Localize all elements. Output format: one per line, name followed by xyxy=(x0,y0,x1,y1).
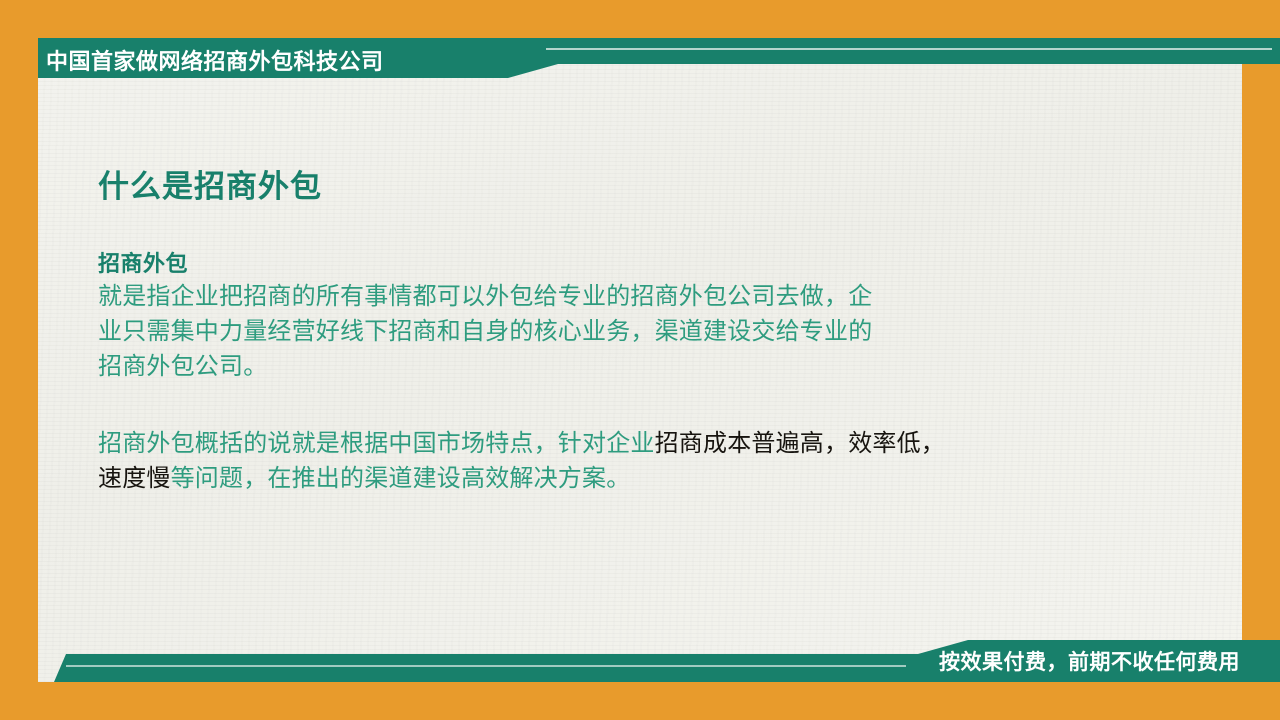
paragraph-1-heading: 招商外包 xyxy=(98,249,1228,279)
paragraph-2-line-1: 招商外包概括的说就是根据中国市场特点，针对企业招商成本普遍高，效率低， xyxy=(98,426,1228,461)
paragraph-2: 招商外包概括的说就是根据中国市场特点，针对企业招商成本普遍高，效率低， 速度慢等… xyxy=(98,426,1228,496)
paragraph-1-line-1: 就是指企业把招商的所有事情都可以外包给专业的招商外包公司去做，企 xyxy=(98,279,1228,314)
paragraph-1-line-3: 招商外包公司。 xyxy=(98,349,1228,384)
paragraph-1: 招商外包 就是指企业把招商的所有事情都可以外包给专业的招商外包公司去做，企 业只… xyxy=(98,249,1228,384)
paragraph-2-line-1-dark: 招商成本普遍高，效率低， xyxy=(655,430,945,457)
paragraph-2-line-2: 速度慢等问题，在推出的渠道建设高效解决方案。 xyxy=(98,461,1228,496)
paragraph-2-line-1-green: 招商外包概括的说就是根据中国市场特点，针对企业 xyxy=(98,430,655,457)
paragraph-1-line-2: 业只需集中力量经营好线下招商和自身的核心业务，渠道建设交给专业的 xyxy=(98,314,1228,349)
paragraph-spacer xyxy=(98,384,1228,426)
paragraph-2-line-2-dark: 速度慢 xyxy=(98,465,171,492)
slide-canvas: 中国首家做网络招商外包科技公司 按效果付费，前期不收任何费用 什么是招商外包 招… xyxy=(0,0,1280,720)
main-content: 什么是招商外包 招商外包 就是指企业把招商的所有事情都可以外包给专业的招商外包公… xyxy=(98,168,1228,496)
page-title: 什么是招商外包 xyxy=(98,168,1228,205)
paragraph-2-line-2-green: 等问题，在推出的渠道建设高效解决方案。 xyxy=(171,465,631,492)
header-title: 中国首家做网络招商外包科技公司 xyxy=(46,44,486,76)
footer-tagline: 按效果付费，前期不收任何费用 xyxy=(939,646,1240,676)
